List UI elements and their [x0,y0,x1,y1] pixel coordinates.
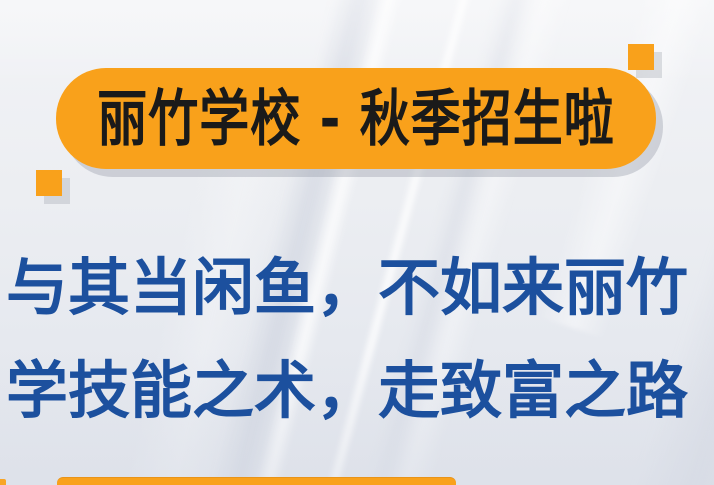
headline-banner-title: 丽竹学校 - 秋季招生啦 [97,88,615,149]
slogan-line-2: 学技能之术，走致富之路 [6,339,708,442]
bottom-bar-left-nub [0,479,6,485]
decorative-square-top-right-icon [628,44,654,70]
slogan-block: 与其当闲鱼，不如来丽竹 学技能之术，走致富之路 [6,236,708,442]
slogan-line-1: 与其当闲鱼，不如来丽竹 [6,236,708,339]
poster-canvas: 丽竹学校 - 秋季招生啦 与其当闲鱼，不如来丽竹 学技能之术，走致富之路 [0,0,714,485]
decorative-square-bottom-left-icon [36,170,62,196]
headline-banner: 丽竹学校 - 秋季招生啦 [56,68,656,169]
bottom-orange-bar [57,477,456,485]
